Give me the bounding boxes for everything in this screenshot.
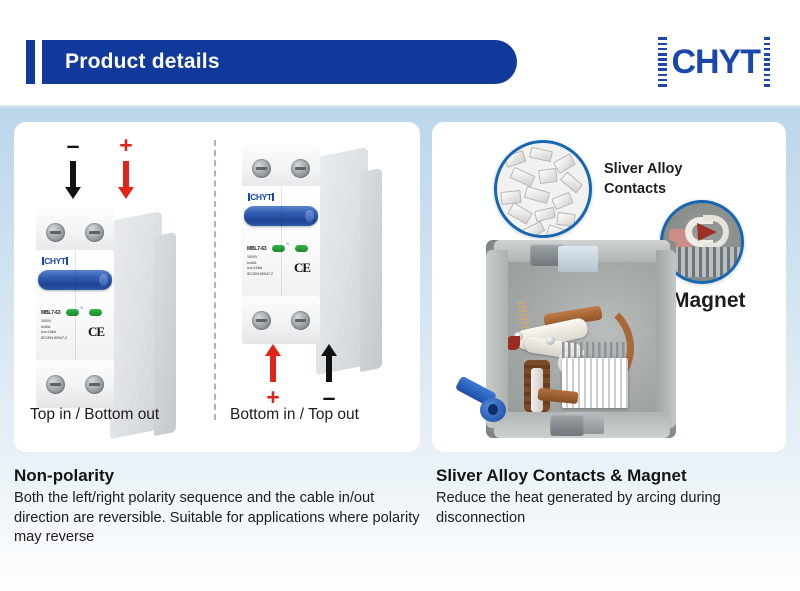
wiring-schematic: ∿ bbox=[286, 243, 289, 248]
terminal-block-bottom bbox=[242, 296, 320, 344]
status-indicator-right bbox=[89, 309, 102, 316]
slide-root: Product details CHYT – bbox=[0, 0, 800, 591]
din-clip-knob bbox=[480, 398, 506, 422]
panel-contacts-magnet: Sliver Alloy Contacts Magnet bbox=[432, 122, 786, 452]
status-indicator-left bbox=[66, 309, 79, 316]
circuit-breaker-device: CHYT MBL7-63 ∿ 1000VIn40AIcu=10kAIEC/EN … bbox=[36, 208, 186, 398]
mechanism-pivot bbox=[546, 336, 555, 345]
terminal-screw bbox=[252, 159, 271, 178]
polarity-sign: – bbox=[58, 136, 88, 154]
terminal-block-top bbox=[36, 208, 114, 256]
figure-caption: Top in / Bottom out bbox=[30, 406, 159, 424]
callout-label-line2: Contacts bbox=[604, 180, 682, 200]
arc-runner-top bbox=[558, 246, 598, 272]
figure-caption: Bottom in / Top out bbox=[230, 406, 359, 424]
logo-stripes-left bbox=[658, 37, 667, 86]
polarity-sign: – bbox=[314, 388, 344, 406]
red-marker-left bbox=[508, 336, 520, 350]
polarity-marker-plus-bottom: + bbox=[258, 344, 288, 406]
status-indicator-right bbox=[295, 245, 308, 252]
magnet-pin-array bbox=[667, 247, 743, 277]
device-body: CHYT MBL7-63 ∿ 1000VIn40AIcu=10kAIEC/EN … bbox=[36, 250, 114, 362]
device-model-label: MBL7-63 bbox=[41, 310, 60, 316]
caption-body: Both the left/right polarity sequence an… bbox=[14, 489, 422, 548]
din-rail-clip bbox=[456, 380, 518, 426]
callout-label-sliver-alloy-contacts: Sliver Alloy Contacts bbox=[604, 160, 682, 199]
terminal-bottom bbox=[550, 414, 584, 436]
caption-contacts-magnet: Sliver Alloy Contacts & Magnet Reduce th… bbox=[436, 466, 788, 528]
ce-mark: CE bbox=[88, 324, 104, 340]
terminal-screw bbox=[46, 375, 65, 394]
device-back-face bbox=[360, 168, 382, 372]
device-model-label: MBL7-63 bbox=[247, 246, 266, 252]
terminal-screw bbox=[252, 311, 271, 330]
logo-stripes-right bbox=[764, 37, 770, 86]
page-title: Product details bbox=[65, 50, 220, 74]
polarity-marker-minus-bottom: – bbox=[314, 344, 344, 406]
brand-logo: CHYT bbox=[658, 42, 770, 82]
polarity-marker-plus-top: + bbox=[111, 136, 141, 199]
circuit-breaker-device: CHYT MBL7-63 ∿ 1000VIn40AIcu=10kAIEC/EN … bbox=[242, 144, 392, 334]
terminal-screw bbox=[85, 375, 104, 394]
terminal-screw bbox=[291, 311, 310, 330]
device-spec-text: 1000VIn40AIcu=10kAIEC/EN 60947-2 bbox=[247, 255, 273, 277]
callout-circle-sliver-alloy-contacts bbox=[494, 140, 592, 238]
terminal-screw bbox=[291, 159, 310, 178]
terminal-block-top bbox=[242, 144, 320, 192]
terminal-screw bbox=[85, 223, 104, 242]
title-accent-bar bbox=[26, 40, 35, 84]
polarity-marker-minus-top: – bbox=[58, 136, 88, 199]
toggle-handle[interactable] bbox=[244, 206, 318, 226]
figure-top-in-bottom-out: – + bbox=[28, 136, 208, 426]
header: Product details CHYT bbox=[0, 0, 800, 105]
device-spec-text: 1000VIn40AIcu=10kAIEC/EN 60947-2 bbox=[41, 319, 67, 341]
caption-title: Non-polarity bbox=[14, 466, 422, 486]
wiring-schematic: ∿ bbox=[80, 307, 83, 312]
panel-non-polarity: – + bbox=[14, 122, 420, 452]
panel-divider bbox=[214, 140, 216, 420]
polarity-sign: + bbox=[111, 136, 141, 154]
terminal-screw bbox=[46, 223, 65, 242]
caption-non-polarity: Non-polarity Both the left/right polarit… bbox=[14, 466, 422, 548]
polarity-sign: + bbox=[258, 388, 288, 406]
page-title-banner: Product details bbox=[42, 40, 517, 84]
housing-right bbox=[656, 250, 676, 428]
status-indicator-left bbox=[272, 245, 285, 252]
caption-title: Sliver Alloy Contacts & Magnet bbox=[436, 466, 788, 486]
logo-wordmark: CHYT bbox=[671, 45, 760, 79]
ce-mark: CE bbox=[294, 260, 310, 276]
terminal-block-bottom bbox=[36, 360, 114, 408]
callout-label-line1: Sliver Alloy bbox=[604, 160, 682, 180]
figure-bottom-in-top-out: CHYT MBL7-63 ∿ 1000VIn40AIcu=10kAIEC/EN … bbox=[230, 136, 410, 426]
device-brand-logo: CHYT bbox=[247, 192, 275, 202]
callout-label-magnet: Magnet bbox=[672, 287, 746, 315]
toggle-handle[interactable] bbox=[38, 270, 112, 290]
caption-body: Reduce the heat generated by arcing duri… bbox=[436, 489, 788, 528]
device-brand-logo: CHYT bbox=[41, 256, 69, 266]
device-body: CHYT MBL7-63 ∿ 1000VIn40AIcu=10kAIEC/EN … bbox=[242, 186, 320, 298]
